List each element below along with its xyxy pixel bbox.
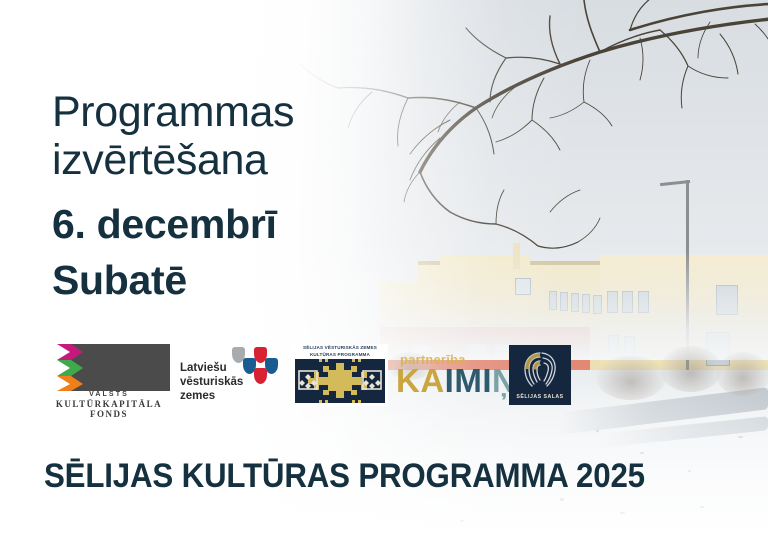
headline-line-2: izvērtēšana (52, 136, 392, 184)
selija-ornament-icon (295, 359, 385, 403)
logo-selijas-kulturas-programma: SĒLIJAS VĒSTURISKĀS ZEMES KULTŪRAS PROGR… (292, 344, 388, 406)
selija-caption-line-2: KULTŪRAS PROGRAMMA (292, 352, 388, 359)
logo-selijas-salas: SĒLIJAS SALAS (509, 345, 571, 405)
vkkf-line-1: VALSTS (44, 391, 174, 398)
headline-location: Subatē (52, 258, 392, 304)
sponsor-logo-strip: VALSTS KULTŪRKAPITĀLA FONDS Latviešu vēs… (44, 341, 571, 409)
kaimini-part-2: IMI (445, 362, 492, 399)
kaimini-part-1: KA (396, 362, 445, 399)
kaimini-wordmark: KAIMIŅI (396, 364, 526, 397)
shield-icon (254, 368, 267, 384)
fingerprint-icon (520, 350, 560, 388)
lvz-line-3: zemes (180, 389, 243, 403)
lvz-line-1: Latviešu (180, 361, 243, 375)
poster-canvas: Programmas izvērtēšana 6. decembrī Subat… (0, 0, 768, 543)
logo-latviesu-vesturiskas-zemes: Latviešu vēsturiskās zemes (180, 343, 288, 407)
headline: Programmas izvērtēšana 6. decembrī Subat… (52, 88, 392, 304)
headline-line-1: Programmas (52, 88, 392, 136)
logo-vkkf: VALSTS KULTŪRKAPITĀLA FONDS (44, 341, 174, 409)
lvz-wordmark: Latviešu vēsturiskās zemes (180, 361, 243, 403)
selija-caption-line-1: SĒLIJAS VĒSTURISKĀS ZEMES (292, 345, 388, 352)
vkkf-chevron-icon (57, 344, 83, 391)
logo-partneriba-kaimini: partnerība KAIMIŅI (394, 344, 502, 406)
lvz-line-2: vēsturiskās (180, 375, 243, 389)
selijas-salas-label: SĒLIJAS SALAS (509, 394, 571, 400)
vkkf-wordmark: VALSTS KULTŪRKAPITĀLA FONDS (44, 391, 174, 419)
footer-title: SĒLIJAS KULTŪRAS PROGRAMMA 2025 (44, 457, 645, 496)
headline-date: 6. decembrī (52, 202, 392, 248)
selija-caption: SĒLIJAS VĒSTURISKĀS ZEMES KULTŪRAS PROGR… (292, 345, 388, 359)
vkkf-line-2: KULTŪRKAPITĀLA FONDS (44, 399, 174, 419)
